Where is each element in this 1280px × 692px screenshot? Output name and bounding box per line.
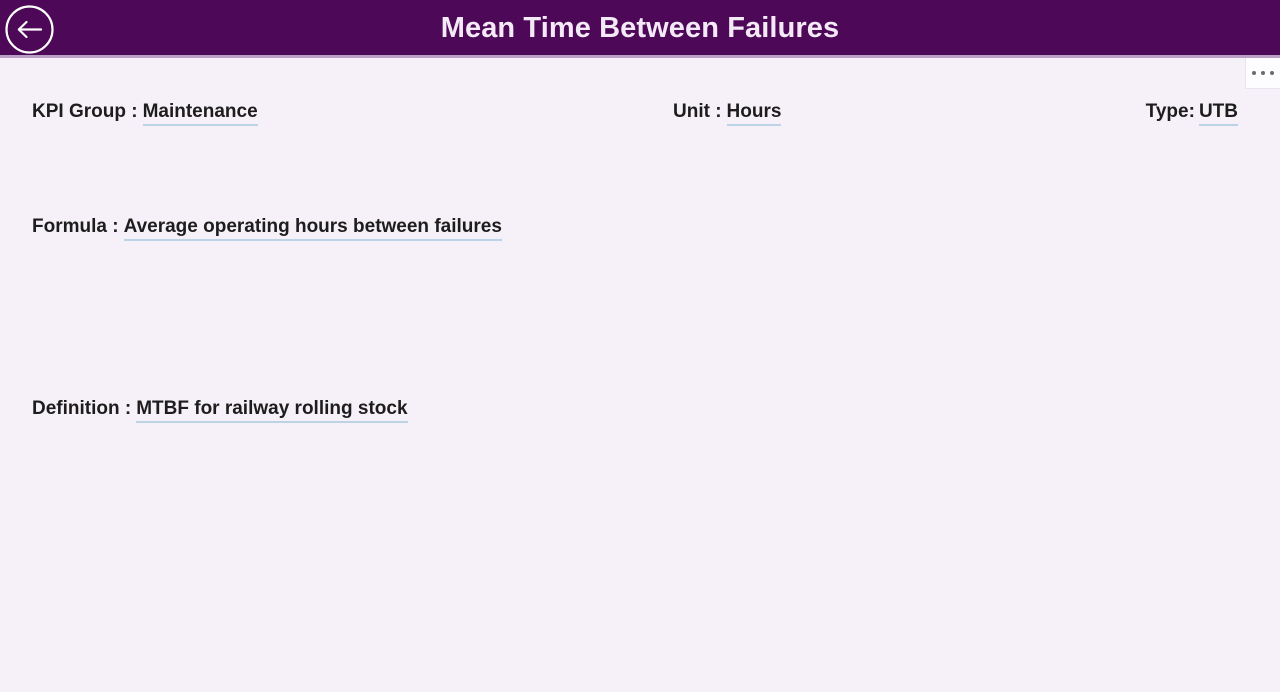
field-type-label: Type: <box>1146 101 1195 123</box>
field-formula: Formula : Average operating hours betwee… <box>32 216 502 241</box>
page-title: Mean Time Between Failures <box>0 0 1280 58</box>
field-unit-value[interactable]: Hours <box>727 102 782 126</box>
kpi-detail-page: Mean Time Between Failures KPI Group : M… <box>0 0 1280 692</box>
field-kpi-group-label: KPI Group : <box>32 101 138 123</box>
field-type: Type: UTB <box>1146 101 1238 126</box>
field-formula-value[interactable]: Average operating hours between failures <box>124 217 502 241</box>
page-header: Mean Time Between Failures <box>0 0 1280 58</box>
kpi-detail-content: KPI Group : Maintenance Unit : Hours Typ… <box>0 58 1280 692</box>
ellipsis-dot-2 <box>1261 71 1265 75</box>
field-definition-label: Definition : <box>32 398 131 420</box>
field-definition-value[interactable]: MTBF for railway rolling stock <box>136 399 407 423</box>
ellipsis-dot-1 <box>1252 71 1256 75</box>
field-definition: Definition : MTBF for railway rolling st… <box>32 398 408 423</box>
field-formula-label: Formula : <box>32 216 119 238</box>
back-button[interactable] <box>4 4 55 55</box>
field-unit: Unit : Hours <box>673 101 781 126</box>
field-type-value[interactable]: UTB <box>1199 102 1238 126</box>
field-unit-label: Unit : <box>673 101 722 123</box>
more-options-button[interactable] <box>1245 58 1280 89</box>
back-arrow-circle-icon <box>4 4 55 55</box>
field-kpi-group: KPI Group : Maintenance <box>32 101 258 126</box>
ellipsis-dot-3 <box>1270 71 1274 75</box>
field-kpi-group-value[interactable]: Maintenance <box>143 102 258 126</box>
